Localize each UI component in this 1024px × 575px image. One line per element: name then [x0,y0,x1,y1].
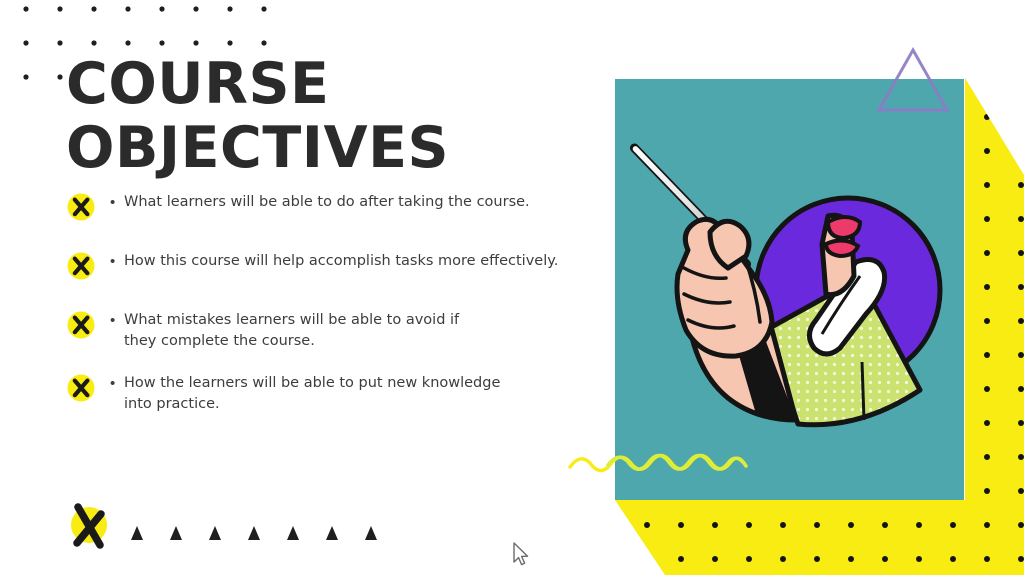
bullet-dot: • [110,251,124,273]
objectives-list: • What learners will be able to do after… [66,192,586,415]
list-item-label: How this course will help accomplish tas… [124,251,586,272]
list-item-label: What mistakes learners will be able to a… [124,310,496,352]
x-mark-icon [66,251,96,281]
bullet-dot: • [110,192,124,214]
list-item: • How this course will help accomplish t… [66,251,586,281]
x-mark-icon [66,310,96,340]
bullet-dot: • [110,310,124,332]
page-title: COURSE OBJECTIVES [66,52,586,180]
list-item: • What learners will be able to do after… [66,192,586,222]
bottom-decoration [66,496,396,556]
page-title-line-1: COURSE [66,52,586,116]
page-title-line-2: OBJECTIVES [66,116,586,180]
x-mark-icon [66,373,96,403]
bullet-dot: • [110,373,124,395]
list-item: • What mistakes learners will be able to… [66,310,586,352]
wavy-line [560,0,1024,575]
list-item: • How the learners will be able to put n… [66,373,586,415]
list-item-label: How the learners will be able to put new… [124,373,506,415]
x-mark-icon [66,192,96,222]
mouse-pointer [512,542,530,568]
triangle-row-decoration [126,516,396,540]
x-mark-icon [66,496,118,552]
list-item-label: What learners will be able to do after t… [124,192,586,213]
instructor-pointing-illustration [560,0,1024,575]
slide-canvas: COURSE OBJECTIVES • What learners will b… [0,0,1024,575]
